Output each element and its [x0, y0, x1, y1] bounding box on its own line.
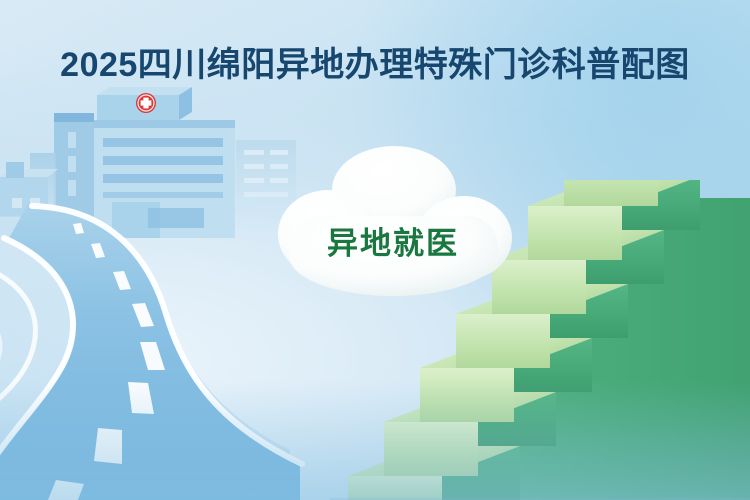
- red-cross-medical-icon: [136, 93, 156, 113]
- cloud-label: 异地就医: [268, 218, 518, 263]
- page-title: 2025四川绵阳异地办理特殊门诊科普配图: [0, 37, 750, 86]
- ground-haze: [0, 380, 750, 500]
- illustration-canvas: 异地就医 2025四川绵阳异地办理特殊门诊科普配图: [0, 0, 750, 500]
